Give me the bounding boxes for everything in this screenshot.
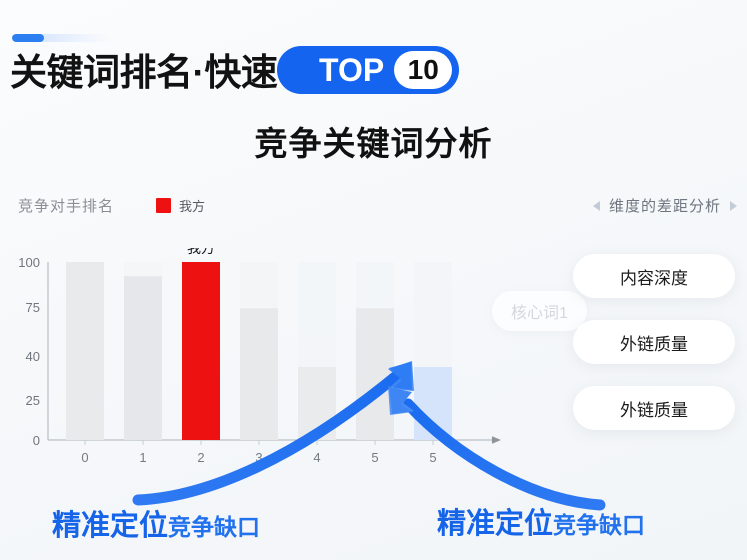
headline: 关键词排名·快速 <box>10 44 277 100</box>
bar[interactable] <box>240 308 278 440</box>
x-axis-tickmarks <box>85 440 433 445</box>
bar[interactable] <box>124 276 162 440</box>
y-tick-label: 75 <box>26 300 40 315</box>
dimension-pill-list: 内容深度 外链质量 外链质量 <box>573 254 735 430</box>
caption-right-strong: 精准定位 <box>437 500 553 542</box>
x-tick-label: 5 <box>371 450 378 465</box>
dimension-pill[interactable]: 内容深度 <box>573 254 735 298</box>
bar-gap-highlight[interactable] <box>414 367 452 440</box>
x-axis-labels: 0 1 2 3 4 5 5 <box>81 450 436 465</box>
headline-text: 关键词排名·快速 <box>10 54 277 91</box>
caption-right: 精准定位 竞争缺口 <box>437 500 645 542</box>
triangle-right-icon[interactable] <box>730 201 737 211</box>
x-tick-label: 1 <box>139 450 146 465</box>
triangle-left-icon[interactable] <box>593 201 600 211</box>
top-rank-badge: TOP 10 <box>277 46 459 94</box>
page-subtitle: 竞争关键词分析 <box>0 117 747 165</box>
progress-bar-fill <box>12 34 44 42</box>
y-tick-label: 25 <box>26 393 40 408</box>
dimension-pill[interactable]: 外链质量 <box>573 320 735 364</box>
chart-legend-title: 竞争对手排名 <box>18 195 114 216</box>
caption-right-sub: 竞争缺口 <box>553 506 645 540</box>
bar[interactable] <box>356 308 394 440</box>
x-tick-label: 5 <box>429 450 436 465</box>
dimension-pill[interactable]: 外链质量 <box>573 386 735 430</box>
x-tick-label: 0 <box>81 450 88 465</box>
legend-key-label: 我方 <box>179 196 205 215</box>
y-axis-ticks: 100 75 40 25 0 <box>18 255 40 448</box>
bar[interactable] <box>298 367 336 440</box>
legend-color-swatch-icon <box>156 198 171 213</box>
caption-left: 精准定位 竞争缺口 <box>52 502 260 544</box>
x-tick-label: 4 <box>313 450 320 465</box>
y-tick-label: 100 <box>18 255 40 270</box>
legend-key-ours: 我方 <box>156 196 205 215</box>
caption-left-strong: 精准定位 <box>52 502 168 544</box>
dimension-panel-header: 维度的差距分析 <box>593 195 737 216</box>
chart-legend: 竞争对手排名 我方 <box>18 195 205 216</box>
progress-bar-decoration <box>12 34 112 42</box>
bar-annotation-label: 我方 <box>187 248 215 256</box>
bar-chart-svg: 100 75 40 25 0 <box>0 248 560 480</box>
y-tick-label: 0 <box>33 433 40 448</box>
y-tick-label: 40 <box>26 349 40 364</box>
caption-left-sub: 竞争缺口 <box>168 508 260 542</box>
top-badge-word: TOP <box>297 54 384 86</box>
x-axis-arrow-icon <box>492 436 501 444</box>
bar[interactable] <box>66 262 104 440</box>
x-tick-label: 2 <box>197 450 204 465</box>
top-badge-number: 10 <box>394 51 452 89</box>
bar-chart: 100 75 40 25 0 <box>0 248 560 480</box>
x-tick-label: 3 <box>255 450 262 465</box>
dimension-panel-title: 维度的差距分析 <box>609 195 721 216</box>
bar-highlight-ours[interactable] <box>182 262 220 440</box>
